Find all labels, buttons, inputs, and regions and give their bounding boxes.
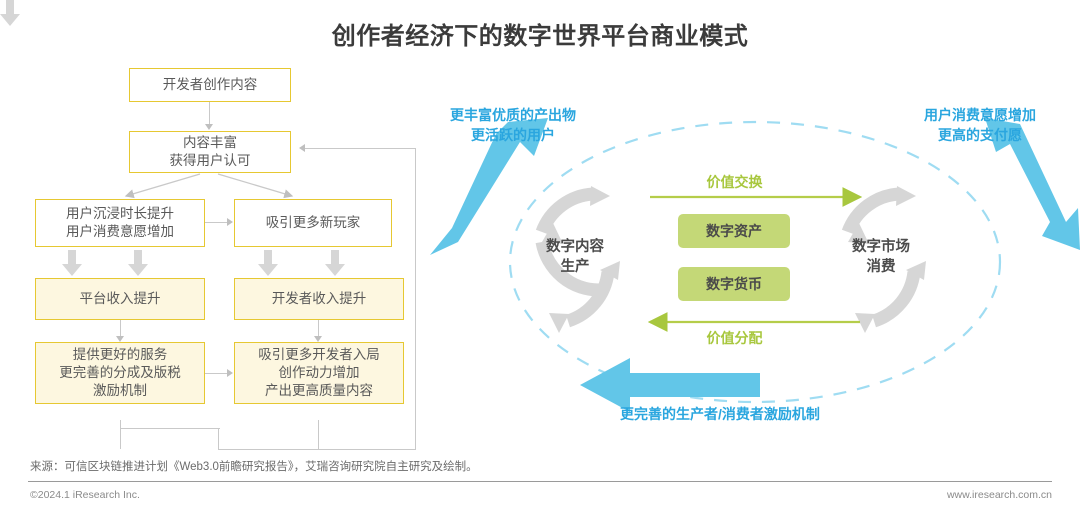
flow-box-label: 平台收入提升 (80, 290, 161, 308)
flow-box-better-service-revenue-share[interactable]: 提供更好的服务 更完善的分成及版税 激励机制 (35, 342, 205, 404)
feedback-line-bottom (218, 449, 416, 450)
connector-b7-b8 (205, 373, 229, 374)
green-box-label: 数字资产 (706, 221, 762, 241)
label-value-exchange: 价值交换 (682, 172, 787, 192)
source-note: 来源：可信区块链推进计划《Web3.0前瞻研究报告》，艾瑞咨询研究院自主研究及绘… (30, 458, 478, 474)
label-better-incentive-mechanism: 更完善的生产者/消费者激励机制 (555, 405, 885, 425)
green-box-label: 数字货币 (706, 274, 762, 294)
label-richer-output-active-users: 更丰富优质的产出物 更活跃的用户 (418, 106, 608, 145)
flow-box-label: 吸引更多开发者入局 创作动力增加 产出更高质量内容 (258, 346, 380, 401)
flow-box-label: 开发者收入提升 (272, 290, 367, 308)
cycle-node-digital-market-consumption: 数字市场 消费 (831, 238, 931, 277)
b7-bottom-stub (120, 420, 121, 449)
flow-box-user-immersion-consumption[interactable]: 用户沉浸时长提升 用户消费意愿增加 (35, 199, 205, 247)
infographic-slide: 创作者经济下的数字世界平台商业模式 开发者创作内容 内容丰富 获得用户认可 (0, 0, 1080, 506)
flow-box-label: 用户沉浸时长提升 用户消费意愿增加 (66, 205, 174, 241)
left-ring-arrowhead-low (549, 313, 569, 333)
flow-box-attract-new-players[interactable]: 吸引更多新玩家 (234, 199, 392, 247)
flow-box-attract-more-developers[interactable]: 吸引更多开发者入局 创作动力增加 产出更高质量内容 (234, 342, 404, 404)
label-value-distribution: 价值分配 (682, 328, 787, 348)
copyright-text: ©2024.1 iResearch Inc. (30, 489, 140, 501)
connector-b7-b8-arrowhead (227, 369, 233, 377)
cycle-node-digital-content-production: 数字内容 生产 (525, 238, 625, 277)
website-link[interactable]: www.iresearch.com.cn (947, 489, 1052, 501)
green-box-digital-currency[interactable]: 数字货币 (678, 267, 790, 301)
connector-b2-to-row2 (0, 0, 430, 210)
right-ring-arrowhead-top (896, 186, 916, 206)
flow-box-platform-revenue-growth[interactable]: 平台收入提升 (35, 278, 205, 320)
label-higher-consumption-willingness: 用户消费意愿增加 更高的支付愿 (890, 106, 1070, 145)
block-arrow-5 (325, 250, 345, 276)
footer-divider (28, 481, 1052, 482)
connector-b3-b4-arrowhead (227, 218, 233, 226)
left-ring-arrowhead-top (590, 186, 610, 206)
flow-box-label: 提供更好的服务 更完善的分成及版税 激励机制 (59, 346, 181, 401)
green-box-digital-asset[interactable]: 数字资产 (678, 214, 790, 248)
block-arrow-4 (258, 250, 278, 276)
block-arrow-3 (0, 0, 20, 26)
block-arrow-2 (128, 250, 148, 276)
b8-bottom-stub (318, 420, 319, 449)
flow-box-developer-revenue-growth[interactable]: 开发者收入提升 (234, 278, 404, 320)
block-arrow-1 (62, 250, 82, 276)
flow-box-label: 吸引更多新玩家 (266, 214, 361, 232)
connector-b3-b4 (205, 222, 229, 223)
cyan-arrow-left-bottom (580, 358, 760, 412)
b7-bottom-join (120, 428, 220, 429)
b7-join-down (218, 428, 219, 450)
